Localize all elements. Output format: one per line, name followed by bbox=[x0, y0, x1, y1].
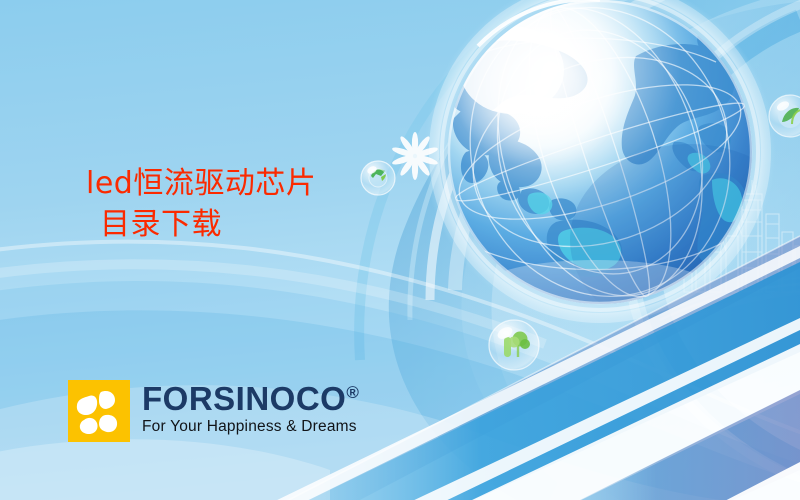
company-logo[interactable]: FORSINOCO® For Your Happiness & Dreams bbox=[68, 380, 359, 442]
logo-wordmark-text: FORSINOCO bbox=[142, 380, 346, 417]
bubble-with-tree-icon bbox=[489, 320, 539, 370]
logo-tagline: For Your Happiness & Dreams bbox=[142, 418, 359, 436]
diagonal-light-stripes bbox=[236, 236, 800, 500]
registered-trademark-icon: ® bbox=[346, 383, 359, 402]
page-title: led恒流驱动芯片 目录下载 bbox=[86, 164, 426, 246]
bubble-with-plant-icon bbox=[769, 95, 800, 137]
logo-text-block: FORSINOCO® For Your Happiness & Dreams bbox=[142, 380, 359, 436]
globe-coastal-accents bbox=[528, 153, 743, 271]
city-ground-beams bbox=[650, 278, 800, 336]
globe-continents bbox=[448, 29, 792, 277]
promotional-banner: led恒流驱动芯片 目录下载 FORSINOCO® bbox=[0, 0, 800, 500]
four-petal-flower-icon bbox=[68, 380, 130, 442]
globe-grid bbox=[433, 0, 767, 330]
city-skyline-silhouette bbox=[684, 180, 800, 292]
logo-wordmark: FORSINOCO® bbox=[142, 382, 359, 415]
headline-line-2: 目录下载 bbox=[86, 205, 426, 246]
headline-line-1: led恒流驱动芯片 bbox=[86, 164, 426, 205]
earth-globe-graphic bbox=[424, 0, 800, 336]
